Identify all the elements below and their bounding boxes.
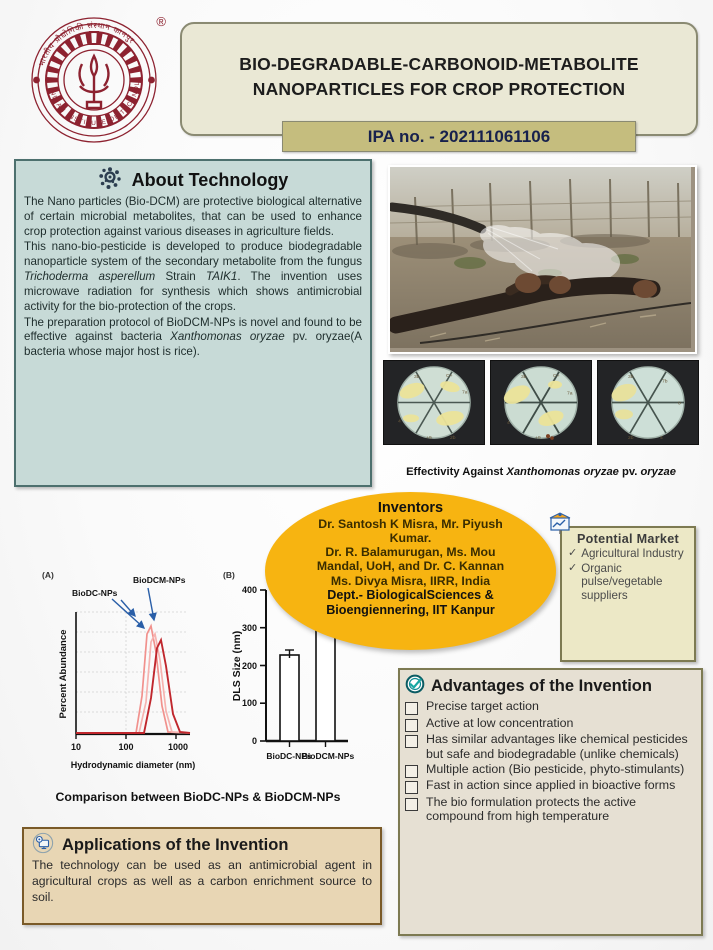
svg-text:3b: 3b [414,374,420,380]
panel-b-ytick-300: 300 [242,623,257,633]
poster-title-line-2: NANOPARTICLES FOR CROP PROTECTION [182,77,696,102]
about-paragraph-2: This nano-bio-pesticide is developed to … [24,240,362,314]
panel-a-xtick-1000: 1000 [168,742,188,752]
poster-title: BIO-DEGRADABLE-CARBONOID-METABOLITE NANO… [182,52,696,103]
petri-dish-2: 3bC+ 7a4 +9 [490,360,592,445]
about-paragraph-1: The Nano particles (Bio-DCM) are protect… [24,195,362,239]
checkbox-icon [405,735,418,748]
check-icon: ✓ [568,562,577,603]
panel-b-ytick-400: 400 [242,585,257,595]
advantage-item: Has similar advantages like chemical pes… [405,732,695,761]
applications-panel: Applications of the Invention The techno… [22,827,382,925]
advantages-panel: Advantages of the Invention Precise targ… [398,668,703,936]
petri-dish-row: 3bC+ 7a4 +92b [383,360,699,445]
registered-trademark-icon: ® [156,14,166,29]
advantages-header: Advantages of the Invention [405,673,695,699]
applications-title: Applications of the Invention [62,836,288,855]
monitor-gear-icon [32,832,54,859]
checkbox-icon [405,719,418,732]
panel-b-label: (B) [223,570,235,580]
check-circle-icon [405,674,425,699]
petri-dish-1: 3bC+ 7a4 +92b [383,360,485,445]
panel-a-label: (A) [42,570,54,580]
dish-caption-pathovar: oryzae [640,466,675,478]
svg-text:4: 4 [660,435,663,441]
panel-b-xtick-biodcm: BioDCM-NPs [302,751,355,761]
advantage-label: Fast in action since applied in bioactiv… [426,778,675,793]
market-item-label: Organic pulse/vegetable suppliers [581,562,688,603]
advantage-label: Precise target action [426,699,539,714]
about-technology-header: About Technology [24,165,362,195]
poster-title-line-1: BIO-DEGRADABLE-CARBONOID-METABOLITE [182,52,696,77]
advantage-item: Multiple action (Bio pesticide, phyto-st… [405,762,695,778]
inventor-line-5: Ms. Divya Misra, IIRR, India [331,574,490,588]
svg-text:7a: 7a [567,391,573,397]
advantage-item: The bio formulation protects the active … [405,795,695,824]
bar-biodcm-nps [316,629,335,741]
poster-canvas: भारतीय प्रौद्योगिकी संस्थान कानपुर INDIA… [0,0,713,950]
series-biodc-np [76,626,190,733]
svg-text:7a: 7a [462,390,468,396]
market-board-icon [548,511,572,535]
advantage-label: Has similar advantages like chemical pes… [426,732,695,761]
microbe-icon [98,166,122,195]
panel-a-xlabel: Hydrodynamic diameter (nm) [71,760,196,770]
series-biodcm-np [76,640,190,733]
checkbox-icon [405,781,418,794]
crop-spray-photo [388,165,697,354]
dish-caption-mid: pv. [619,466,641,478]
iit-logo-svg: भारतीय प्रौद्योगिकी संस्थान कानपुर INDIA… [22,8,172,148]
check-icon: ✓ [568,547,577,561]
svg-text:3b: 3b [521,374,527,380]
advantages-list: Precise target action Active at low conc… [405,699,695,824]
series-biodc-np-replicate [76,634,190,733]
svg-text:C+: C+ [446,373,453,379]
inventors-title: Inventors [378,500,443,517]
svg-text:+9: +9 [426,435,432,441]
dish-caption-species: Xanthomonas oryzae [506,466,619,478]
svg-text:C+: C+ [553,373,560,379]
chart-caption: Comparison between BioDC-NPs & BioDCM-NP… [8,790,388,804]
inventor-line-1: Dr. Santosh K Misra, Mr. Piyush [318,517,503,531]
advantages-title: Advantages of the Invention [431,677,652,696]
svg-text:0: 0 [678,401,681,407]
annotation-biodcm-nps: BioDCM-NPs [133,575,186,585]
svg-text:+9: +9 [535,435,541,441]
inventors-department-line-2: Bioengiennering, IIT Kanpur [326,603,495,618]
advantage-label: The bio formulation protects the active … [426,795,695,824]
crop-spray-photo-svg [390,167,691,348]
applications-header: Applications of the Invention [32,832,372,858]
applications-body: The technology can be used as an antimic… [32,858,372,906]
svg-text:3b: 3b [628,374,634,380]
svg-text:2b: 2b [628,435,634,441]
panel-b-ylabel: DLS Size (nm) [231,631,243,702]
annotation-biodc-nps: BioDC-NPs [72,588,118,598]
dish-caption-prefix: Effectivity Against [406,466,506,478]
advantage-item: Fast in action since applied in bioactiv… [405,778,695,794]
panel-b-ytick-0: 0 [252,736,257,746]
advantage-label: Active at low concentration [426,716,573,731]
checkbox-icon [405,702,418,715]
inventor-line-3: Dr. R. Balamurugan, Ms. Mou [325,545,495,559]
advantage-item: Active at low concentration [405,716,695,732]
ipa-number-banner: IPA no. - 202111061106 [282,121,636,152]
inventor-line-4: Mandal, UoH, and Dr. C. Kannan [317,559,504,573]
inventor-line-2: Kumar. [390,531,432,545]
about-technology-panel: About Technology The Nano particles (Bio… [14,159,372,487]
bar-biodc-nps [280,655,299,741]
iit-kanpur-logo: भारतीय प्रौद्योगिकी संस्थान कानपुर INDIA… [22,8,172,148]
petri-dish-3: 3b7b 02b4 [597,360,699,445]
about-technology-body: The Nano particles (Bio-DCM) are protect… [24,195,362,360]
checkbox-icon [405,765,418,778]
panel-a-xtick-100: 100 [118,742,133,752]
inventors-panel: Inventors Dr. Santosh K Misra, Mr. Piyus… [265,492,556,650]
market-list-item: ✓ Organic pulse/vegetable suppliers [568,562,688,603]
advantage-label: Multiple action (Bio pesticide, phyto-st… [426,762,684,777]
svg-text:7b: 7b [662,379,668,385]
market-item-label: Agricultural Industry [581,547,683,561]
market-list-item: ✓ Agricultural Industry [568,547,688,561]
about-technology-title: About Technology [132,170,289,191]
panel-a-ylabel: Percent Abundance [58,630,69,719]
svg-text:2b: 2b [450,435,456,441]
panel-a-xtick-10: 10 [71,742,81,752]
checkbox-icon [405,798,418,811]
svg-text:4: 4 [507,420,510,426]
poster-title-box: BIO-DEGRADABLE-CARBONOID-METABOLITE NANO… [180,22,698,136]
svg-text:4: 4 [398,418,401,424]
petri-dish-caption: Effectivity Against Xanthomonas oryzae p… [383,466,699,478]
advantage-item: Precise target action [405,699,695,715]
panel-b-ytick-200: 200 [242,661,257,671]
inventors-department-line-1: Dept.- BiologicalSciences & [327,588,494,603]
about-paragraph-3: The preparation protocol of BioDCM-NPs i… [24,316,362,360]
potential-market-title: Potential Market [568,532,688,546]
panel-b-ytick-100: 100 [242,698,257,708]
potential-market-panel: Potential Market ✓ Agricultural Industry… [560,526,696,662]
